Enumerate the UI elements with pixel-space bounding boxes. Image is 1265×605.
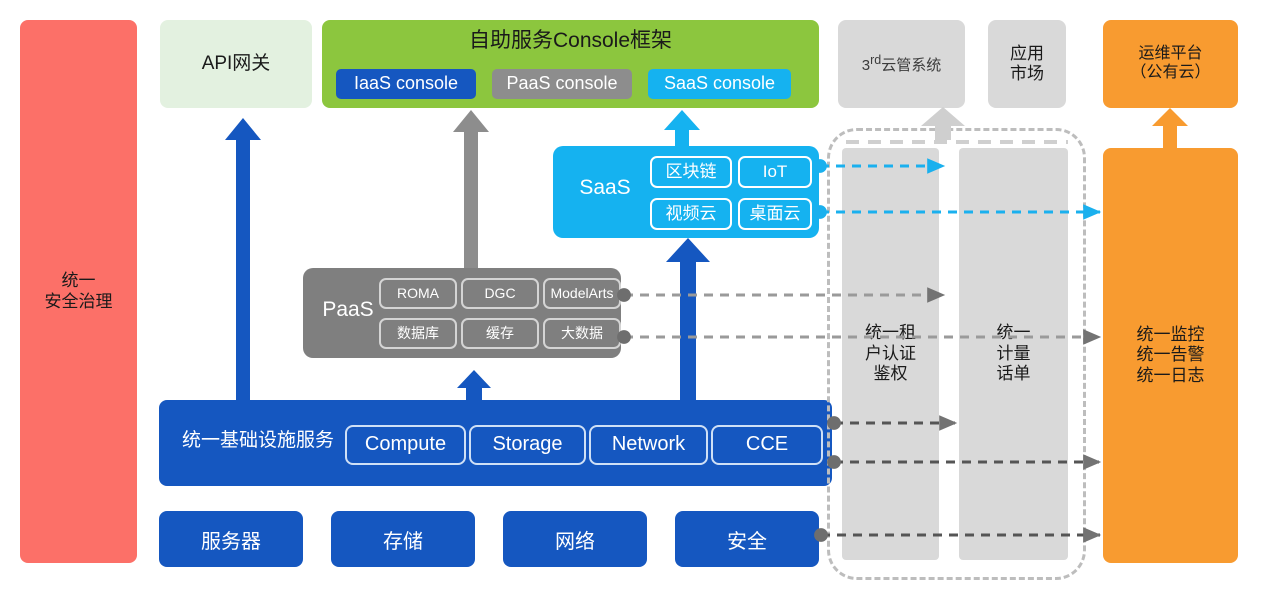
- paas-service-cache-label: 缓存: [486, 325, 514, 342]
- arrow-monitoring-to-ops-platform: [1152, 108, 1188, 148]
- paas-service-modelarts-label: ModelArts: [550, 285, 613, 302]
- paas-console-chip[interactable]: PaaS console: [492, 69, 632, 99]
- saas-service-video-cloud-label: 视频云: [666, 204, 717, 224]
- saas-layer-label: SaaS: [565, 176, 645, 201]
- paas-service-roma[interactable]: ROMA: [379, 278, 457, 309]
- saas-console-label: SaaS console: [664, 73, 775, 94]
- iaas-service-compute-label: Compute: [365, 433, 446, 457]
- iaas-service-network[interactable]: Network: [589, 425, 708, 465]
- saas-layer-panel[interactable]: SaaS 区块链 IoT 视频云 桌面云: [553, 146, 819, 238]
- third-party-rest: 云管系统: [881, 57, 941, 74]
- hardware-server-label: 服务器: [201, 525, 261, 554]
- paas-console-label: PaaS console: [506, 73, 617, 94]
- iaas-service-storage[interactable]: Storage: [469, 425, 586, 465]
- iaas-service-compute[interactable]: Compute: [345, 425, 466, 465]
- saas-service-desktop-cloud[interactable]: 桌面云: [738, 198, 812, 230]
- saas-service-blockchain[interactable]: 区块链: [650, 156, 732, 188]
- saas-service-desktop-cloud-label: 桌面云: [750, 204, 801, 224]
- paas-service-database-label: 数据库: [397, 325, 439, 342]
- third-party-cloud-mgmt-box[interactable]: 3rd云管系统: [838, 20, 965, 108]
- iaas-layer-panel[interactable]: 统一基础设施服务 Compute Storage Network CCE: [159, 400, 832, 486]
- unified-tenant-auth-label: 统一租 户认证 鉴权: [865, 323, 916, 384]
- unified-tenant-auth-column[interactable]: 统一租 户认证 鉴权: [842, 148, 939, 560]
- hardware-network-label: 网络: [555, 525, 595, 554]
- hardware-storage-box[interactable]: 存储: [331, 511, 475, 567]
- arrow-iaas-to-saas: [666, 238, 710, 400]
- iaas-layer-label: 统一基础设施服务: [173, 430, 343, 452]
- third-party-cloud-mgmt-label: 3rd云管系统: [862, 53, 941, 75]
- paas-service-database[interactable]: 数据库: [379, 318, 457, 349]
- saas-console-chip[interactable]: SaaS console: [648, 69, 791, 99]
- iaas-console-label: IaaS console: [354, 73, 458, 94]
- iaas-service-network-label: Network: [612, 433, 685, 457]
- hardware-network-box[interactable]: 网络: [503, 511, 647, 567]
- architecture-diagram: 统一 安全治理 API网关 自助服务Console框架 IaaS console…: [0, 0, 1265, 605]
- iaas-service-cce-label: CCE: [746, 433, 788, 457]
- paas-service-roma-label: ROMA: [397, 285, 439, 302]
- saas-service-blockchain-label: 区块链: [666, 162, 717, 182]
- arrow-iaas-to-paas: [457, 370, 491, 400]
- saas-service-iot-label: IoT: [763, 162, 788, 182]
- ops-platform-label: 运维平台 （公有云）: [1130, 45, 1210, 83]
- paas-service-dgc-label: DGC: [484, 285, 515, 302]
- iaas-console-chip[interactable]: IaaS console: [336, 69, 476, 99]
- unified-monitoring-label: 统一监控 统一告警 统一日志: [1137, 325, 1205, 385]
- security-governance-label: 统一 安全治理: [45, 271, 113, 311]
- third-party-ordinal-sup: rd: [870, 53, 881, 67]
- saas-service-iot[interactable]: IoT: [738, 156, 812, 188]
- hardware-storage-label: 存储: [383, 525, 423, 554]
- ops-platform-box[interactable]: 运维平台 （公有云）: [1103, 20, 1238, 108]
- paas-service-cache[interactable]: 缓存: [461, 318, 539, 349]
- iaas-service-storage-label: Storage: [492, 433, 562, 457]
- api-gateway-label: API网关: [202, 53, 271, 75]
- app-market-label: 应用 市场: [1010, 44, 1044, 84]
- arrow-paas-to-console: [453, 110, 489, 268]
- third-party-prefix: 3: [862, 57, 870, 74]
- hardware-security-label: 安全: [727, 525, 767, 554]
- paas-layer-panel[interactable]: PaaS ROMA DGC ModelArts 数据库 缓存 大数据: [303, 268, 621, 358]
- arrow-saas-to-saas-console: [664, 110, 700, 146]
- arrow-iaas-to-api-gateway: [225, 118, 261, 400]
- hardware-security-box[interactable]: 安全: [675, 511, 819, 567]
- api-gateway-box[interactable]: API网关: [160, 20, 312, 108]
- paas-service-bigdata-label: 大数据: [561, 325, 603, 342]
- unified-metering-label: 统一 计量 话单: [997, 323, 1031, 384]
- unified-monitoring-panel[interactable]: 统一监控 统一告警 统一日志: [1103, 148, 1238, 563]
- paas-service-modelarts[interactable]: ModelArts: [543, 278, 621, 309]
- hardware-server-box[interactable]: 服务器: [159, 511, 303, 567]
- paas-layer-label: PaaS: [313, 298, 383, 323]
- unified-metering-column[interactable]: 统一 计量 话单: [959, 148, 1068, 560]
- paas-service-bigdata[interactable]: 大数据: [543, 318, 621, 349]
- console-framework-panel[interactable]: 自助服务Console框架 IaaS console PaaS console …: [322, 20, 819, 108]
- app-market-box[interactable]: 应用 市场: [988, 20, 1066, 108]
- console-framework-title: 自助服务Console框架: [322, 29, 819, 54]
- iaas-service-cce[interactable]: CCE: [711, 425, 823, 465]
- saas-service-video-cloud[interactable]: 视频云: [650, 198, 732, 230]
- security-governance-panel[interactable]: 统一 安全治理: [20, 20, 137, 563]
- paas-service-dgc[interactable]: DGC: [461, 278, 539, 309]
